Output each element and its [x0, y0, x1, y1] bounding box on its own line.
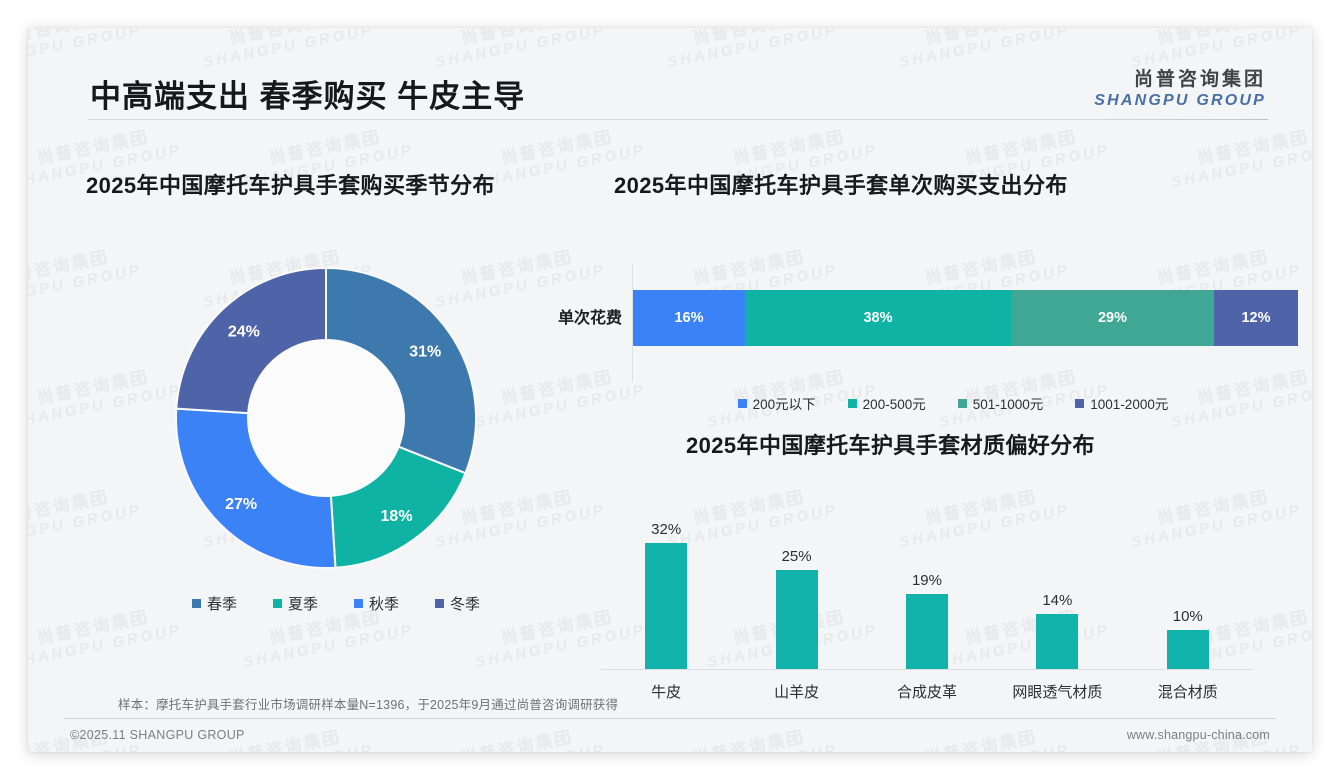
material-bar[interactable]: [1036, 614, 1078, 669]
slide-footer: ©2025.11 SHANGPU GROUP www.shangpu-china…: [28, 719, 1312, 752]
material-value-label: 19%: [912, 572, 942, 589]
spend-legend-item[interactable]: 501-1000元: [958, 393, 1044, 413]
legend-swatch-icon: [273, 599, 282, 608]
donut-legend: 春季夏季秋季冬季: [86, 593, 586, 614]
material-value-label: 32%: [651, 521, 681, 538]
copyright-text: ©2025.11 SHANGPU GROUP: [70, 728, 245, 742]
material-bar-column[interactable]: 10%: [1125, 608, 1251, 669]
material-bar-columns: 32%25%19%14%10%: [601, 483, 1253, 669]
donut-svg: 31%18%27%24%: [166, 258, 486, 578]
legend-swatch-icon: [848, 399, 857, 408]
material-category-label: 混合材质: [1125, 681, 1251, 702]
donut-legend-label: 夏季: [288, 593, 318, 614]
spend-row-label: 单次花费: [528, 304, 622, 328]
donut-value-label: 18%: [381, 508, 413, 525]
donut-center-hole: [248, 340, 404, 496]
material-bar[interactable]: [645, 543, 687, 669]
material-bar-column[interactable]: 19%: [864, 572, 990, 669]
donut-legend-item[interactable]: 冬季: [435, 593, 480, 614]
spend-legend-label: 200-500元: [863, 393, 926, 413]
donut-legend-item[interactable]: 夏季: [273, 593, 318, 614]
spend-legend: 200元以下200-500元501-1000元1001-2000元: [608, 393, 1298, 413]
spend-stacked-chart: 单次花费 16%38%29%12% 200元以下200-500元501-1000…: [498, 228, 1298, 418]
spend-legend-label: 200元以下: [753, 393, 816, 413]
material-bar[interactable]: [1167, 630, 1209, 669]
material-category-label: 牛皮: [603, 681, 729, 702]
page-title: 中高端支出 春季购买 牛皮主导: [90, 71, 525, 116]
legend-swatch-icon: [435, 599, 444, 608]
spend-legend-item[interactable]: 200-500元: [848, 393, 926, 413]
brand-logo: 尚普咨询集团 SHANGPU GROUP: [1094, 64, 1266, 110]
material-value-label: 14%: [1042, 592, 1072, 609]
material-value-label: 25%: [782, 548, 812, 565]
spend-legend-item[interactable]: 200元以下: [738, 393, 816, 413]
donut-chart-title: 2025年中国摩托车护具手套购买季节分布: [86, 168, 495, 200]
spend-stack-segment[interactable]: 38%: [745, 290, 1011, 346]
material-baseline: [601, 669, 1253, 670]
spend-legend-item[interactable]: 1001-2000元: [1075, 393, 1168, 413]
donut-legend-label: 秋季: [369, 593, 399, 614]
donut-value-label: 24%: [228, 324, 260, 341]
slide-header: 中高端支出 春季购买 牛皮主导 尚普咨询集团 SHANGPU GROUP: [28, 28, 1312, 120]
material-category-label: 合成皮革: [864, 681, 990, 702]
material-bar-column[interactable]: 14%: [994, 592, 1120, 669]
watermark-text: 尚普咨询集团SHANGPU GROUP: [1166, 122, 1312, 191]
spend-stack-segment[interactable]: 16%: [633, 290, 745, 346]
spend-legend-label: 501-1000元: [973, 393, 1044, 413]
slide-canvas: 尚普咨询集团SHANGPU GROUP尚普咨询集团SHANGPU GROUP尚普…: [28, 28, 1312, 752]
spend-stack-segment[interactable]: 29%: [1011, 290, 1214, 346]
donut-legend-item[interactable]: 秋季: [354, 593, 399, 614]
material-bar-chart: 32%25%19%14%10% 牛皮山羊皮合成皮革网眼透气材质混合材质: [573, 483, 1273, 708]
spend-chart-title: 2025年中国摩托车护具手套单次购买支出分布: [614, 168, 1068, 200]
header-divider: [88, 119, 1268, 120]
legend-swatch-icon: [192, 599, 201, 608]
donut-legend-item[interactable]: 春季: [192, 593, 237, 614]
website-link[interactable]: www.shangpu-china.com: [1127, 728, 1270, 742]
sample-footnote: 样本：摩托车护具手套行业市场调研样本量N=1396，于2025年9月通过尚普咨询…: [118, 694, 618, 713]
donut-legend-label: 冬季: [450, 593, 480, 614]
legend-swatch-icon: [958, 399, 967, 408]
logo-chinese-text: 尚普咨询集团: [1094, 64, 1266, 91]
donut-value-label: 31%: [409, 344, 441, 361]
spend-legend-label: 1001-2000元: [1090, 393, 1168, 413]
material-category-label: 网眼透气材质: [994, 681, 1120, 702]
material-bar[interactable]: [906, 594, 948, 669]
material-bar-column[interactable]: 25%: [734, 548, 860, 669]
legend-swatch-icon: [738, 399, 747, 408]
spend-stack-segment[interactable]: 12%: [1214, 290, 1298, 346]
legend-swatch-icon: [354, 599, 363, 608]
logo-english-text: SHANGPU GROUP: [1094, 92, 1266, 110]
material-chart-title: 2025年中国摩托车护具手套材质偏好分布: [686, 428, 1095, 460]
material-bar[interactable]: [776, 570, 818, 669]
material-bar-column[interactable]: 32%: [603, 521, 729, 669]
spend-stack: 16%38%29%12%: [633, 290, 1298, 346]
material-value-label: 10%: [1173, 608, 1203, 625]
donut-legend-label: 春季: [207, 593, 237, 614]
legend-swatch-icon: [1075, 399, 1084, 408]
material-category-labels: 牛皮山羊皮合成皮革网眼透气材质混合材质: [601, 681, 1253, 702]
donut-value-label: 27%: [225, 496, 257, 513]
material-category-label: 山羊皮: [734, 681, 860, 702]
